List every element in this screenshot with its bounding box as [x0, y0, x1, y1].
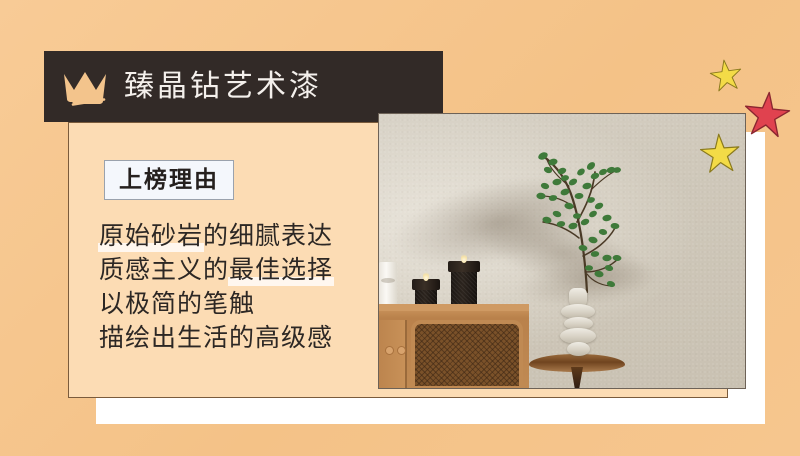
copy-line-2-highlight: 最佳选择: [229, 253, 333, 287]
cabinet-rattan-door: [411, 320, 523, 389]
copy-line-2-prefix: 质感主义的: [99, 256, 229, 284]
copy-line-3: 以极简的笔触: [99, 287, 333, 321]
stone-pebble-vase: [559, 288, 597, 360]
vase-segment: [567, 342, 590, 356]
copy-line-4-prefix: 描绘出生活的高级感: [99, 324, 333, 352]
badge-label: 上榜理由: [119, 166, 219, 192]
crown-icon: [62, 68, 108, 108]
star-yellow-top: [708, 57, 744, 93]
status-badge: 上榜理由: [104, 160, 234, 200]
branch-plant: [499, 126, 669, 294]
candle-flame: [461, 253, 467, 263]
title-bar: 臻晶钻艺术漆: [44, 51, 443, 122]
poster-root: 臻晶钻艺术漆 上榜理由 原始砂岩的细腻表达 质感主义的最佳选择 以极简的笔触 描…: [0, 0, 800, 456]
star-yellow-bottom: [699, 132, 742, 175]
star-red: [742, 89, 793, 140]
candle-flame: [423, 271, 429, 281]
copy-line-3-prefix: 以极简的笔触: [99, 290, 255, 318]
copy-line-1: 原始砂岩的细腻表达: [99, 219, 333, 253]
wooden-cabinet: [378, 306, 529, 388]
copy-line-1-highlight: 原始砂岩: [99, 219, 203, 253]
cabinet-knob: [385, 346, 394, 355]
copy-line-4: 描绘出生活的高级感: [99, 321, 333, 355]
copy-block: 原始砂岩的细腻表达 质感主义的最佳选择 以极简的笔触 描绘出生活的高级感: [99, 219, 333, 355]
cabinet-top: [378, 304, 529, 311]
copy-line-1-suffix: 的细腻表达: [203, 222, 333, 250]
cabinet-knob: [397, 346, 406, 355]
copy-line-2: 质感主义的最佳选择: [99, 253, 333, 287]
page-title: 臻晶钻艺术漆: [124, 72, 322, 102]
interior-scene-photo: [378, 113, 746, 389]
